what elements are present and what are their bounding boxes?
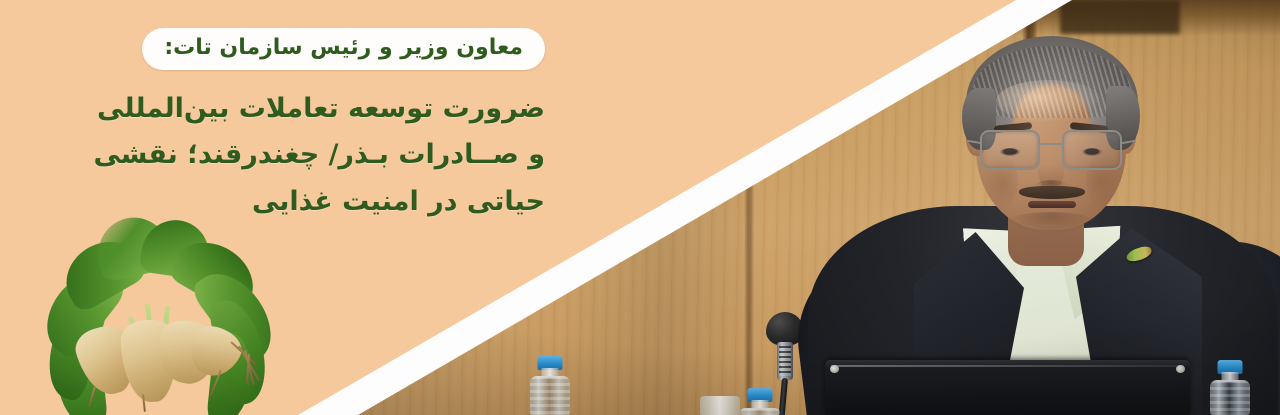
laptop-hinge-left [830, 365, 839, 373]
news-banner: معاون وزیر و رئیس سازمان تات: ضرورت توسع… [0, 0, 1280, 415]
eyeglass-lens-right [1062, 130, 1122, 170]
water-bottle [528, 356, 572, 415]
wall-dark-recess [1060, 0, 1180, 34]
mouth [1028, 201, 1076, 208]
headline-line: ضرورت توسعه تعاملات بین‌المللی [93, 86, 545, 132]
water-bottle [737, 388, 783, 415]
seated-man-with-glasses [880, 36, 1280, 415]
laptop [825, 360, 1190, 415]
water-bottle [1207, 360, 1253, 415]
page-title: ضرورت توسعه تعاملات بین‌المللی و صــادرا… [93, 86, 545, 225]
microphone-body [777, 342, 793, 380]
laptop-hinge-right [1176, 365, 1185, 373]
sugar-beet-plants-icon [0, 196, 324, 415]
kicker-badge: معاون وزیر و رئیس سازمان تات: [142, 28, 545, 70]
chin-shadow [1006, 212, 1096, 234]
bottle-body [530, 376, 570, 415]
bottle-body [1210, 380, 1250, 415]
bottle-body [740, 408, 780, 415]
drinking-glass [700, 396, 740, 415]
eyeglass-lens-left [980, 130, 1040, 170]
headline-line: و صــادرات بـذر/ چغندرقند؛ نقشی [93, 132, 545, 178]
moustache [1019, 186, 1085, 199]
forehead-highlight [996, 80, 1102, 122]
headline-line: حیاتی در امنیت غذایی [93, 179, 545, 225]
